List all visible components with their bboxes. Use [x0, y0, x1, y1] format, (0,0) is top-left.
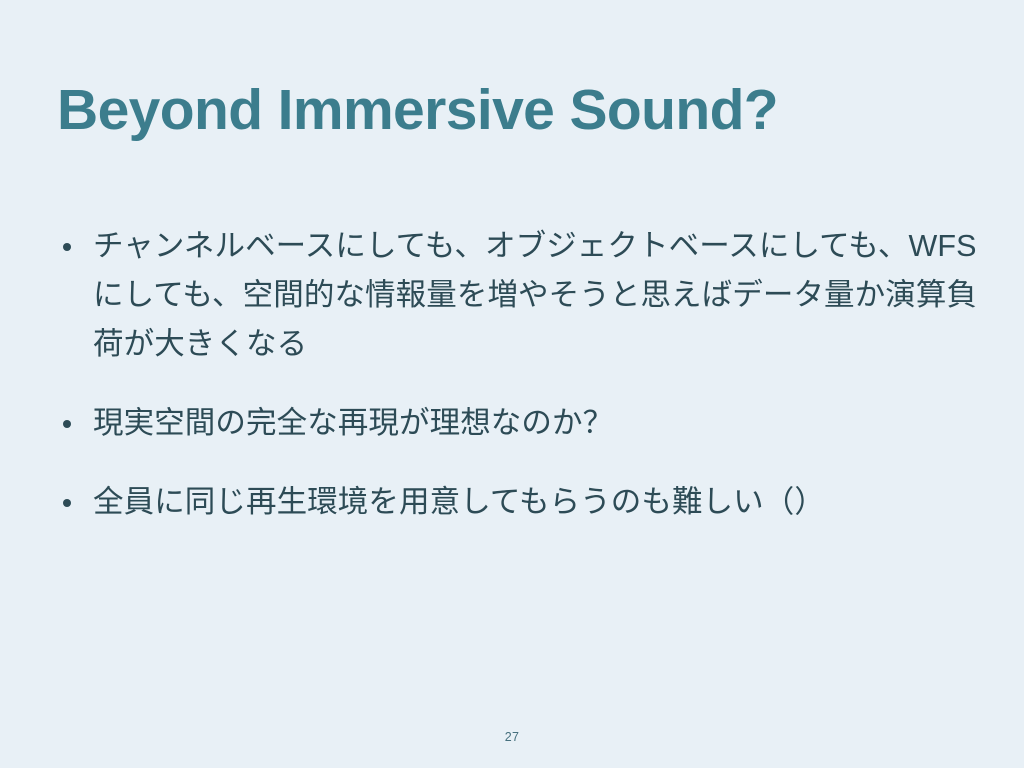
presentation-slide: Beyond Immersive Sound? チャンネルベースにしても、オブジ…: [0, 0, 1024, 768]
list-item: 全員に同じ再生環境を用意してもらうのも難しい（）: [56, 478, 986, 527]
list-item-line: チャンネルベースにしても、オブジェクトベースにしても、WFS: [93, 222, 986, 271]
page-title: Beyond Immersive Sound?: [57, 80, 778, 142]
bullet-dot-icon: [63, 420, 71, 428]
bullet-dot-icon: [63, 243, 71, 251]
list-item-line: 荷が大きくなる: [93, 320, 986, 369]
list-item-text: 全員に同じ再生環境を用意してもらうのも難しい（）: [93, 478, 986, 527]
list-item-line: 全員に同じ再生環境を用意してもらうのも難しい（）: [93, 478, 986, 527]
page-number: 27: [0, 730, 1024, 744]
bullet-dot-icon: [63, 499, 71, 507]
list-item-text: チャンネルベースにしても、オブジェクトベースにしても、WFS にしても、空間的な…: [93, 222, 986, 369]
list-item-text: 現実空間の完全な再現が理想なのか？: [93, 399, 986, 448]
list-item-line: 現実空間の完全な再現が理想なのか？: [93, 399, 986, 448]
bullet-list: チャンネルベースにしても、オブジェクトベースにしても、WFS にしても、空間的な…: [56, 222, 986, 527]
list-item: チャンネルベースにしても、オブジェクトベースにしても、WFS にしても、空間的な…: [56, 222, 986, 369]
list-item-line: にしても、空間的な情報量を増やそうと思えばデータ量か演算負: [93, 271, 986, 320]
list-item: 現実空間の完全な再現が理想なのか？: [56, 399, 986, 448]
